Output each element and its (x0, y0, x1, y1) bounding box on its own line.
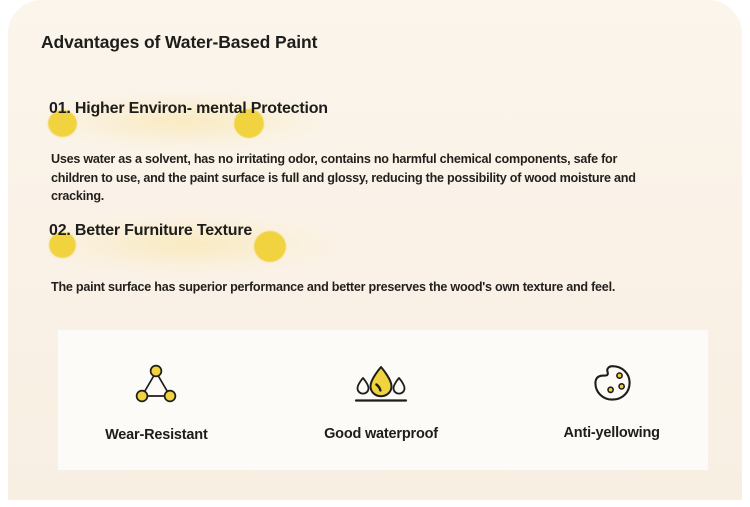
molecule-triangle-icon (132, 358, 180, 410)
paint-palette-icon (588, 358, 636, 410)
promo-card: Advantages of Water-Based Paint 01. High… (8, 0, 742, 500)
section-body-01: Uses water as a solvent, has no irritati… (51, 150, 646, 206)
feature-item-good-waterproof: Good waterproof (273, 358, 490, 442)
screenshot-canvas: Advantages of Water-Based Paint 01. High… (0, 0, 750, 507)
water-droplets-icon (350, 358, 412, 410)
feature-item-wear-resistant: Wear-Resistant (48, 358, 265, 442)
section-heading-01: 01. Higher Environ- mental Protection (49, 99, 369, 119)
section-heading-02: 02. Better Furniture Texture (49, 221, 369, 241)
feature-label: Wear-Resistant (105, 427, 208, 443)
card-content: Advantages of Water-Based Paint 01. High… (8, 0, 742, 500)
feature-label: Good waterproof (324, 426, 438, 442)
section-body-02: The paint surface has superior performan… (51, 278, 731, 297)
feature-item-anti-yellowing: Anti-yellowing (503, 358, 720, 442)
page-title: Advantages of Water-Based Paint (41, 31, 341, 55)
feature-label: Anti-yellowing (564, 425, 660, 441)
feature-panel: Wear-Resistant (58, 330, 708, 470)
feature-row: Wear-Resistant (58, 330, 708, 470)
